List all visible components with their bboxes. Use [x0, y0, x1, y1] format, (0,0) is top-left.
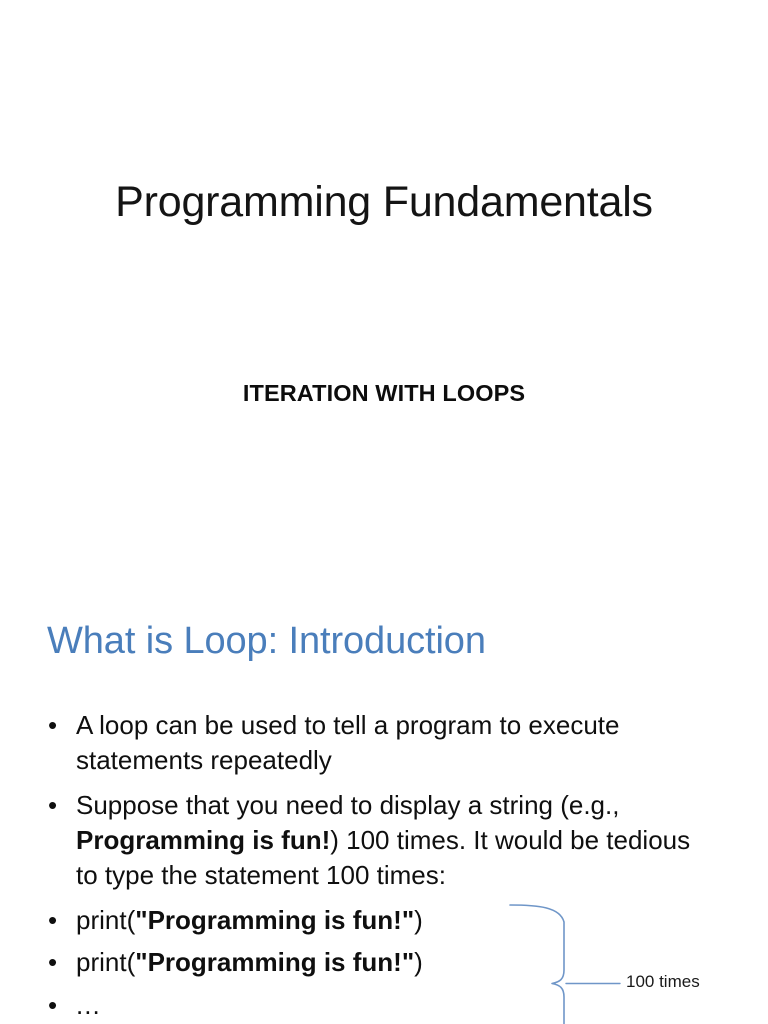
- list-item-emphasis: Programming is fun!: [76, 825, 330, 855]
- code-call-lead: print(: [76, 947, 135, 977]
- list-item-lead: Suppose that you need to display a strin…: [76, 790, 619, 820]
- slide-canvas: Programming Fundamentals ITERATION WITH …: [0, 0, 768, 1024]
- bullet-marker-icon: •: [48, 903, 57, 938]
- list-item-text: A loop can be used to tell a program to …: [76, 708, 704, 779]
- list-item: • ...: [44, 988, 704, 1023]
- list-item: • print("Programming is fun!"): [44, 945, 704, 980]
- list-item: • A loop can be used to tell a program t…: [44, 708, 704, 779]
- list-item-text: ...: [76, 988, 704, 1023]
- subtitle-block: ITERATION WITH LOOPS: [0, 379, 768, 407]
- section-heading: What is Loop: Introduction: [47, 620, 486, 664]
- title-block: Programming Fundamentals: [0, 178, 768, 226]
- bullet-marker-icon: •: [48, 788, 57, 823]
- code-call-tail: ): [414, 905, 423, 935]
- page-title: Programming Fundamentals: [0, 178, 768, 226]
- page-subtitle: ITERATION WITH LOOPS: [0, 379, 768, 407]
- code-string-literal: "Programming is fun!": [135, 947, 414, 977]
- bullet-marker-icon: •: [48, 988, 58, 1023]
- bullet-marker-icon: •: [48, 708, 57, 743]
- code-string-literal: "Programming is fun!": [135, 905, 414, 935]
- code-call-lead: print(: [76, 905, 135, 935]
- bullet-marker-icon: •: [48, 945, 57, 980]
- list-item-text: print("Programming is fun!"): [76, 903, 704, 938]
- bullet-list: • A loop can be used to tell a program t…: [44, 708, 704, 1024]
- list-item-text: print("Programming is fun!"): [76, 945, 704, 980]
- list-item: • Suppose that you need to display a str…: [44, 788, 704, 894]
- list-item: • print("Programming is fun!"): [44, 903, 704, 938]
- code-call-tail: ): [414, 947, 423, 977]
- list-item-text: Suppose that you need to display a strin…: [76, 788, 704, 894]
